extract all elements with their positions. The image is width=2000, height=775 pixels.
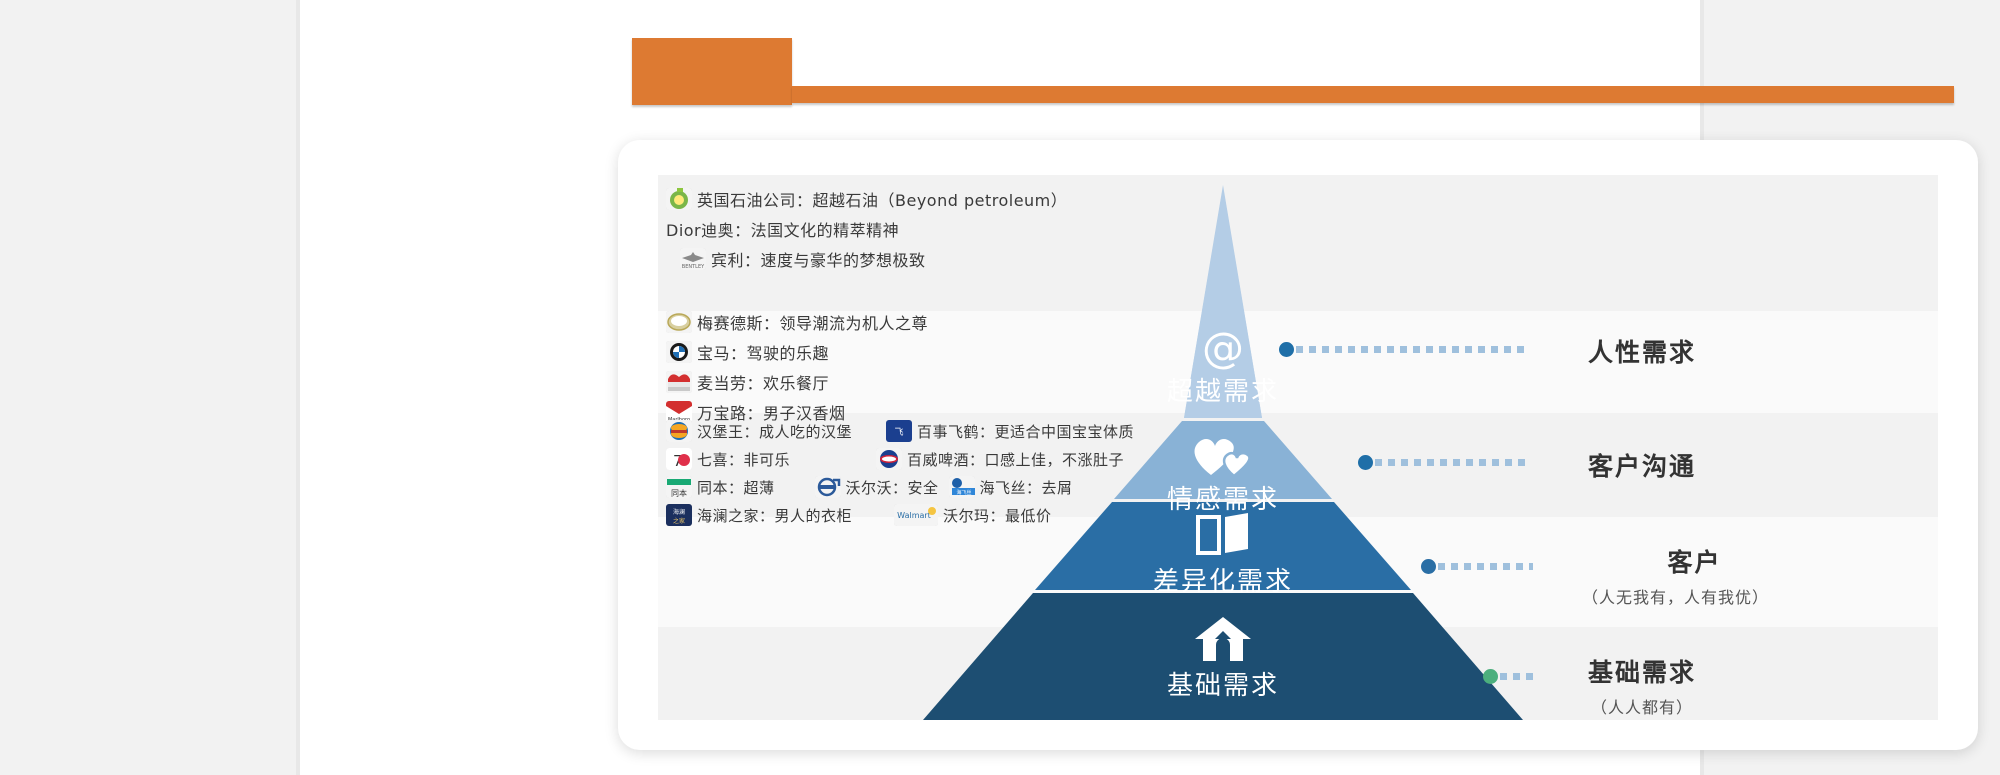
examples-differentiation-group: 汉堡王：成人吃的汉堡 飞 百事飞鹤：更适合中国宝宝体质 7 七喜：非可乐 — [666, 420, 1134, 532]
svg-text:同本: 同本 — [671, 488, 687, 498]
headshoulders-logo: 海飞丝 — [949, 476, 975, 498]
example-text: 同本：超薄 — [697, 477, 775, 498]
sevenup-logo: 7 — [666, 448, 692, 470]
connector-dot-1 — [1279, 342, 1294, 357]
example-text: 百威啤酒：口感上佳，不涨肚子 — [907, 449, 1124, 470]
bp-logo — [666, 188, 692, 210]
example-text: 宾利：速度与豪华的梦想极致 — [711, 247, 926, 271]
svg-text:海澜: 海澜 — [673, 508, 685, 516]
right-label-1[interactable]: 人性需求 — [1588, 333, 1696, 374]
diagram-band-area: @ 超越需求 情感需求 — [658, 175, 1938, 720]
bentley-logo: BENTLEY — [680, 248, 706, 270]
svg-text:飞: 飞 — [895, 427, 904, 438]
example-row: 宝马：驾驶的乐趣 — [666, 340, 928, 364]
svg-text:Walmart: Walmart — [897, 511, 931, 520]
connector-dot-2 — [1358, 455, 1373, 470]
bmw-logo — [666, 341, 692, 363]
right-label-2[interactable]: 客户沟通 — [1588, 447, 1696, 488]
example-text: 七喜：非可乐 — [697, 449, 790, 470]
right-label-3[interactable]: 客户 （人无我有，人有我优） — [1620, 543, 1769, 608]
right-label-2-main: 客户沟通 — [1588, 447, 1696, 483]
pyramid-tier-emotional[interactable] — [1114, 421, 1332, 499]
lenovo-logo: 同本 — [666, 476, 692, 498]
mercedes-logo — [666, 311, 692, 333]
slide-sheet: @ 超越需求 情感需求 — [300, 0, 1700, 775]
example-row: 梅赛德斯：领导潮流为机人之尊 — [666, 310, 928, 334]
walmart-logo: Walmart — [894, 504, 938, 526]
example-text: 梅赛德斯：领导潮流为机人之尊 — [697, 310, 928, 334]
connector-line-3 — [1438, 563, 1533, 570]
example-row: 7 七喜：非可乐 百威啤酒：口感上佳，不涨肚子 — [666, 448, 1134, 470]
example-text: Dior迪奥：法国文化的精萃精神 — [666, 217, 899, 241]
example-text: 宝马：驾驶的乐趣 — [697, 340, 829, 364]
right-label-4-main: 基础需求 — [1588, 653, 1696, 689]
example-text: 海澜之家：男人的衣柜 — [697, 505, 852, 526]
example-text: 百事飞鹤：更适合中国宝宝体质 — [917, 421, 1134, 442]
example-row: 汉堡王：成人吃的汉堡 飞 百事飞鹤：更适合中国宝宝体质 — [666, 420, 1134, 442]
burgerking-logo — [666, 420, 692, 442]
svg-text:海飞丝: 海飞丝 — [956, 489, 971, 496]
example-text: 英国石油公司：超越石油（Beyond petroleum） — [697, 187, 1067, 211]
example-row: 同本 同本：超薄 沃尔沃：安全 海飞丝 海飞丝：去屑 — [666, 476, 1134, 498]
right-label-4-sub: （人人都有） — [1588, 694, 1696, 718]
right-label-1-main: 人性需求 — [1588, 333, 1696, 369]
example-row: 英国石油公司：超越石油（Beyond petroleum） — [666, 187, 1067, 211]
example-text: 沃尔沃：安全 — [846, 477, 939, 498]
heilan-logo: 海澜之家 — [666, 504, 692, 526]
pyramid-tier-basic[interactable] — [923, 593, 1523, 720]
example-text: 海飞丝：去屑 — [980, 477, 1073, 498]
right-label-3-sub: （人无我有，人有我优） — [1582, 584, 1769, 608]
connector-dot-4 — [1483, 669, 1498, 684]
example-text: 汉堡王：成人吃的汉堡 — [697, 421, 852, 442]
budweiser-logo — [876, 448, 902, 470]
connector-line-1 — [1296, 346, 1526, 353]
mcdonalds-logo — [666, 371, 692, 393]
example-row: BENTLEY 宾利：速度与豪华的梦想极致 — [680, 247, 1067, 271]
connector-dot-3 — [1421, 559, 1436, 574]
svg-text:之家: 之家 — [673, 517, 685, 525]
pepsi-logo: 飞 — [886, 420, 912, 442]
example-row: Dior迪奥：法国文化的精萃精神 — [666, 217, 1067, 241]
volvo-logo — [815, 476, 841, 498]
diagram-card: @ 超越需求 情感需求 — [618, 140, 1978, 750]
example-text: 麦当劳：欢乐餐厅 — [697, 370, 829, 394]
page-title — [650, 52, 1950, 92]
right-label-4[interactable]: 基础需求 （人人都有） — [1588, 653, 1696, 718]
examples-emotional-group: 梅赛德斯：领导潮流为机人之尊 宝马：驾驶的乐趣 麦当劳：欢乐餐厅 — [666, 310, 928, 430]
right-label-3-main: 客户 — [1620, 543, 1769, 579]
example-row: 海澜之家 海澜之家：男人的衣柜 Walmart 沃尔玛：最低价 — [666, 504, 1134, 526]
example-text: 沃尔玛：最低价 — [943, 505, 1052, 526]
examples-transcend-group: 英国石油公司：超越石油（Beyond petroleum） Dior迪奥：法国文… — [666, 187, 1067, 277]
connector-line-2 — [1375, 459, 1530, 466]
example-row: 麦当劳：欢乐餐厅 — [666, 370, 928, 394]
svg-text:BENTLEY: BENTLEY — [682, 264, 705, 270]
connector-line-4 — [1500, 673, 1535, 680]
pyramid-apex-fill — [1184, 187, 1262, 418]
